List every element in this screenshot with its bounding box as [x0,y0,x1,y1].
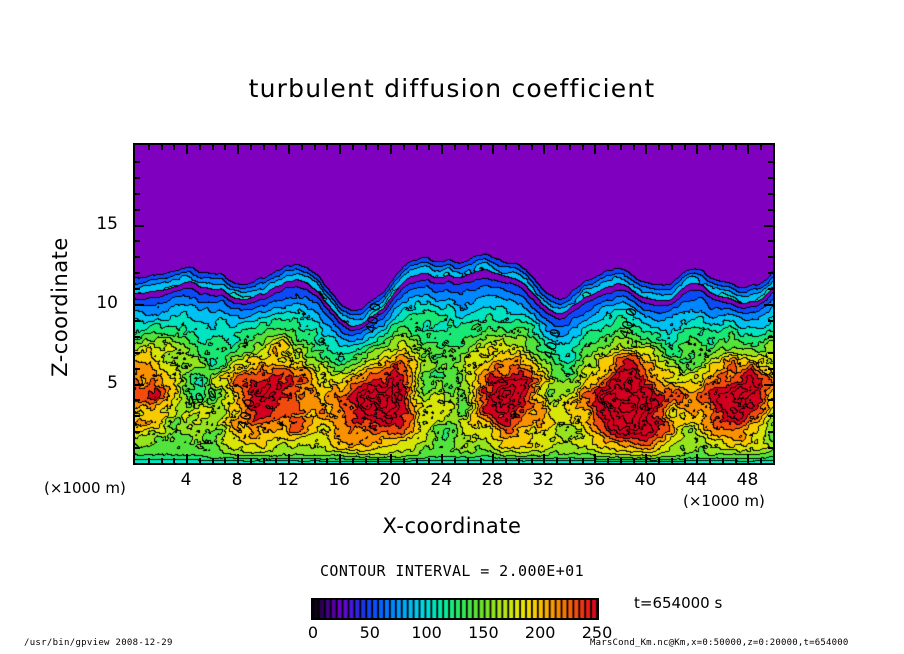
y-tick-label: 10 [86,293,118,313]
x-tick-label: 44 [676,470,716,490]
x-tick-label: 48 [727,470,767,490]
x-tick-label: 40 [625,470,665,490]
y-tick-label: 15 [86,214,118,234]
x-tick-label: 20 [370,470,410,490]
x-tick-label: 8 [217,470,257,490]
x-tick-label: 36 [574,470,614,490]
colorbar-tick-label: 200 [515,623,565,642]
z-axis-unit-note: (×1000 m) [44,479,126,497]
x-tick-label: 4 [166,470,206,490]
contour-plot-panel[interactable]: 40.040.040.040.040.0 [133,143,775,465]
colorbar-tick-label: 0 [288,623,338,642]
colorbar-tick-label: 100 [402,623,452,642]
footer-dataset: MarsCond_Km.nc@Km,x=0:50000,z=0:20000,t=… [590,638,848,648]
colorbar-tick-label: 150 [458,623,508,642]
y-tick-label: 5 [86,373,118,393]
x-axis-title: X-coordinate [0,514,904,538]
colorbar[interactable] [311,598,599,620]
x-tick-label: 16 [319,470,359,490]
y-axis-title: Z-coordinate [48,207,72,407]
x-tick-label: 24 [421,470,461,490]
page-title: turbulent diffusion coefficient [0,74,904,103]
colorbar-title: CONTOUR INTERVAL = 2.000E+01 [0,562,904,580]
x-tick-label: 28 [472,470,512,490]
x-tick-label: 12 [268,470,308,490]
colorbar-gradient [313,600,597,618]
contour-field [135,145,773,463]
x-tick-label: 32 [523,470,563,490]
time-stamp: t=654000 s [634,594,722,612]
colorbar-tick-label: 50 [345,623,395,642]
x-axis-unit-note: (×1000 m) [683,492,765,510]
footer-command: /usr/bin/gpview 2008-12-29 [24,638,173,648]
